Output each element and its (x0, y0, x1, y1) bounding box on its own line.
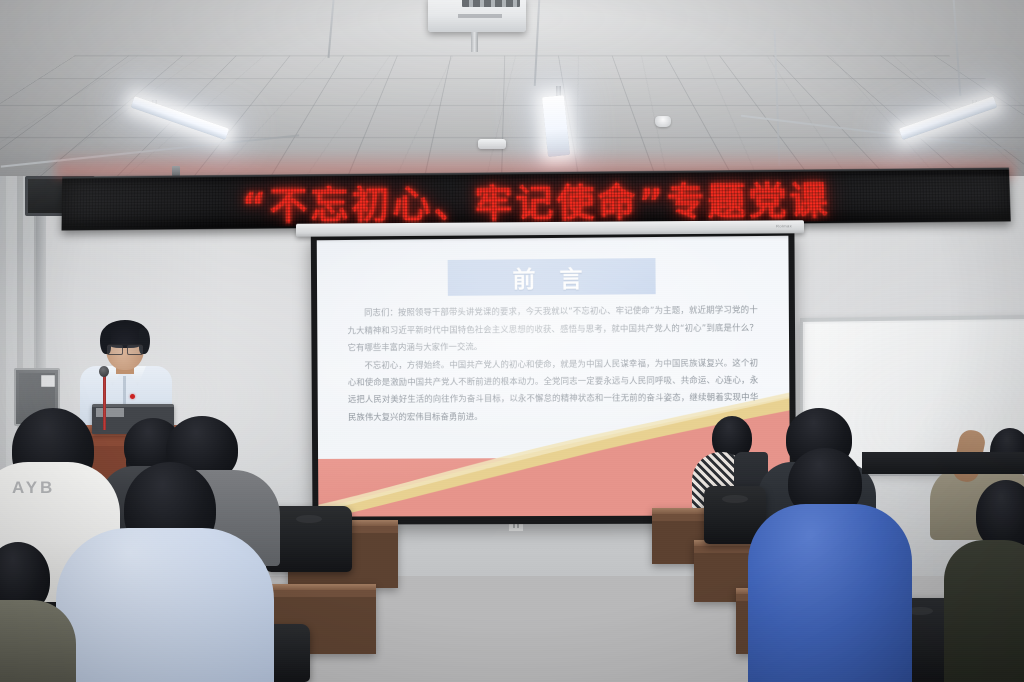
led-banner-mount-bracket (172, 166, 180, 176)
slide-title-box: 前 言 (448, 258, 656, 296)
chair-dimple (722, 495, 748, 503)
desk-rear-right (862, 452, 1024, 474)
slide-paragraph-2: 不忘初心，方得始终。中国共产党人的初心和使命，就是为中国人民谋幸福，为中国民族谋… (348, 355, 759, 426)
smoke-detector (655, 116, 671, 127)
chair-dimple (296, 515, 322, 523)
slide-title-text: 前 言 (512, 260, 590, 295)
laptop-screen (96, 408, 124, 417)
attendee-shirt-text: AYB (12, 478, 55, 498)
attendee-torso (56, 528, 274, 682)
projector-mount (471, 32, 478, 52)
desk-top (264, 584, 376, 590)
ceiling-projector (428, 0, 526, 32)
glasses-icon (107, 344, 143, 352)
microphone-head (99, 366, 109, 377)
lecture-hall-photo: “不忘初心、牢记使命”专题党课 Rolmax 前 言 同志们：按照领导干部带头讲… (0, 0, 1024, 682)
attendee-torso (748, 504, 912, 682)
light-switch[interactable] (41, 375, 55, 387)
projector-label-strip (458, 14, 502, 18)
screen-brand-label: Rolmax (776, 223, 792, 228)
led-banner: “不忘初心、牢记使命”专题党课 (62, 168, 1011, 231)
presenter-party-badge (130, 394, 135, 399)
microphone-stand (103, 372, 106, 430)
slide-body-text: 同志们：按照领导干部带头讲党课的要求，今天我就以“不忘初心、牢记使命”为主题，就… (347, 302, 758, 427)
attendee-torso (944, 540, 1024, 682)
ceiling-speaker (478, 139, 506, 149)
projector-ports (462, 0, 520, 7)
slide-paragraph-1: 同志们：按照领导干部带头讲党课的要求，今天我就以“不忘初心、牢记使命”为主题，就… (347, 302, 758, 357)
